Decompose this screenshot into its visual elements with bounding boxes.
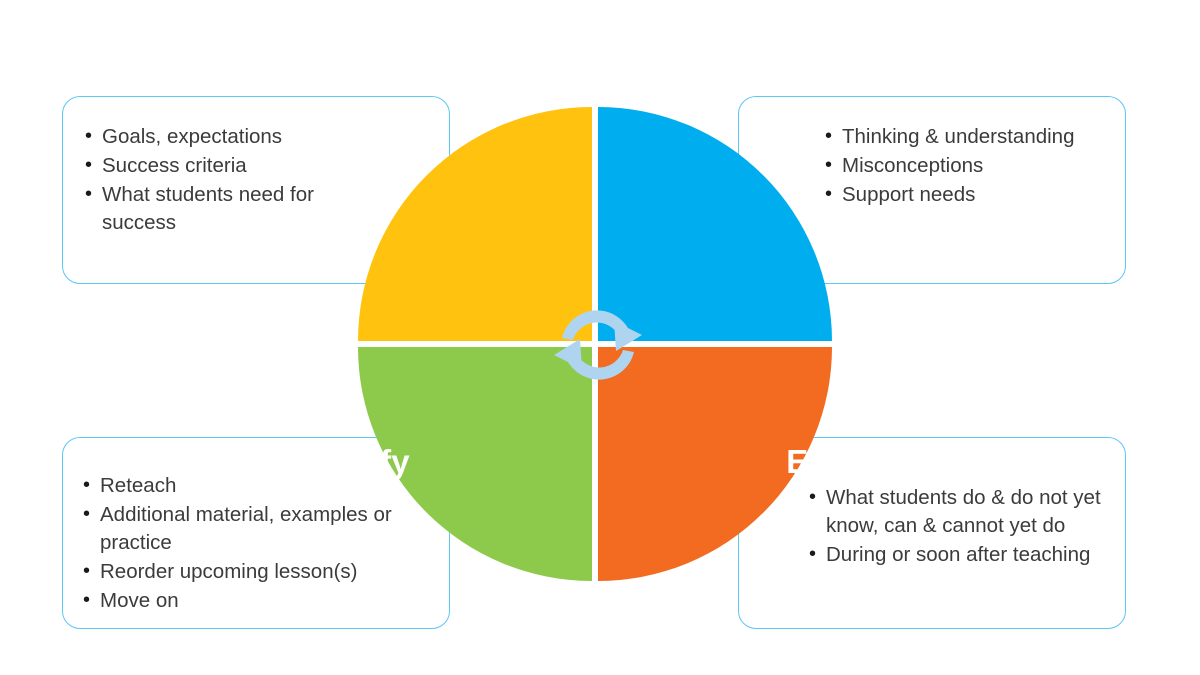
list-item: Support needs (825, 181, 1121, 209)
list-item: During or soon after teaching (809, 541, 1127, 569)
list-item: What students need for success (85, 181, 385, 237)
quadrant-elicit-fill (598, 107, 832, 341)
quadrant-clarify-fill (358, 107, 592, 341)
callout-clarify-bullets: Goals, expectations Success criteria Wha… (85, 123, 385, 238)
list-item: Success criteria (85, 152, 385, 180)
quadrant-label-clarify: Clarify (306, 443, 409, 481)
callout-interpret-bullets: What students do & do not yet know, can … (809, 484, 1127, 570)
quadrant-elicit[interactable] (598, 107, 832, 341)
quadrant-label-interpret: Interpret (765, 661, 900, 675)
list-item: What students do & do not yet know, can … (809, 484, 1127, 540)
quadrant-label-elicit: Elicit (786, 443, 865, 481)
quadrant-clarify[interactable] (358, 107, 592, 341)
list-item: Move on (83, 587, 428, 615)
callout-elicit-bullets: Thinking & understanding Misconceptions … (825, 123, 1121, 210)
quadrant-label-act: Act (327, 661, 380, 675)
list-item: Misconceptions (825, 152, 1121, 180)
list-item: Thinking & understanding (825, 123, 1121, 151)
diagram-canvas: Goals, expectations Success criteria Wha… (0, 0, 1200, 675)
cycle-wheel (358, 107, 832, 581)
list-item: Goals, expectations (85, 123, 385, 151)
